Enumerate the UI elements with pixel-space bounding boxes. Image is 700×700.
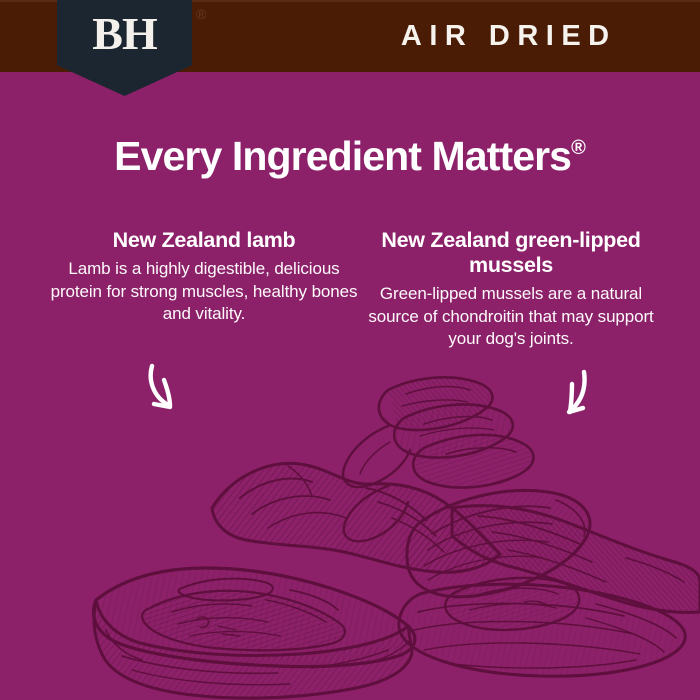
product-feature-poster: AIR DRIED BH ® Every Ingredient Matters®… bbox=[0, 0, 700, 700]
ingredient-title-mussels: New Zealand green-lipped mussels bbox=[355, 228, 667, 278]
air-dried-tagline: AIR DRIED bbox=[330, 0, 680, 72]
illustration-artwork bbox=[0, 368, 700, 700]
ingredient-block-lamb: New Zealand lamb Lamb is a highly digest… bbox=[48, 228, 360, 326]
ingredient-title-lamb: New Zealand lamb bbox=[48, 228, 360, 253]
brand-badge: BH bbox=[57, 0, 192, 96]
brand-badge-initials: BH bbox=[57, 6, 192, 62]
ingredient-block-mussels: New Zealand green-lipped mussels Green-l… bbox=[355, 228, 667, 351]
ingredient-description-mussels: Green-lipped mussels are a natural sourc… bbox=[355, 283, 667, 351]
page-title-text: Every Ingredient Matters bbox=[114, 133, 571, 179]
ingredient-description-lamb: Lamb is a highly digestible, delicious p… bbox=[48, 258, 360, 326]
page-title-registered-mark: ® bbox=[571, 137, 586, 159]
ingredient-illustration bbox=[0, 368, 700, 700]
page-title: Every Ingredient Matters® bbox=[0, 133, 700, 180]
brand-registered-mark: ® bbox=[196, 6, 206, 22]
